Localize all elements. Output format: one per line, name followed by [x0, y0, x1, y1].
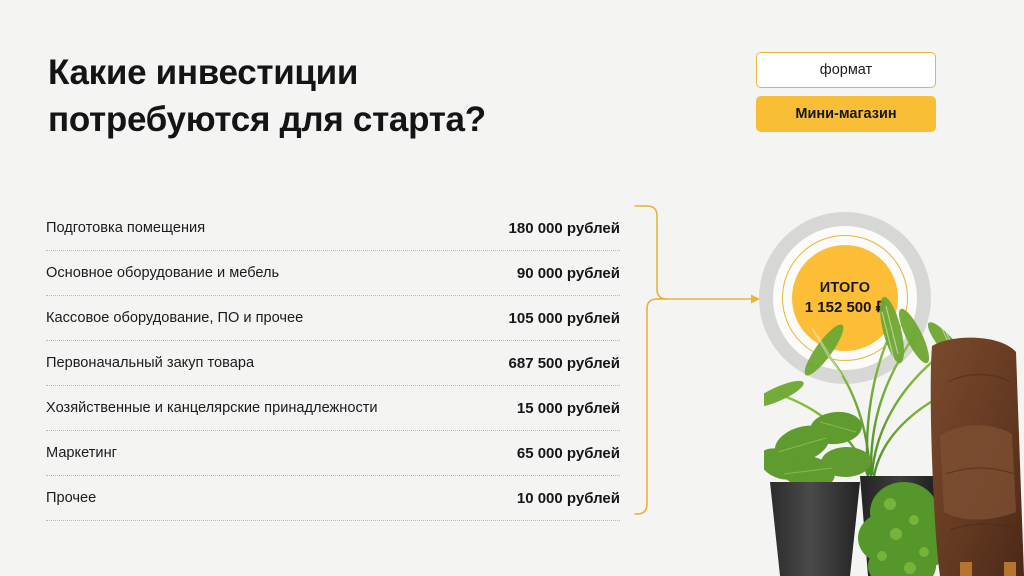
table-row: Подготовка помещения 180 000 рублей	[46, 206, 620, 251]
table-row: Прочее 10 000 рублей	[46, 476, 620, 521]
row-value: 687 500 рублей	[509, 355, 620, 372]
table-row: Хозяйственные и канцелярские принадлежно…	[46, 386, 620, 431]
page-title: Какие инвестиции потребуются для старта?	[48, 50, 668, 143]
total-label: ИТОГО	[820, 281, 871, 296]
format-value-badge[interactable]: Мини-магазин	[756, 96, 936, 132]
row-value: 180 000 рублей	[509, 220, 620, 237]
table-row: Основное оборудование и мебель 90 000 ру…	[46, 251, 620, 296]
row-label: Первоначальный закуп товара	[46, 355, 254, 371]
slide: Какие инвестиции потребуются для старта?…	[0, 0, 1024, 576]
row-value: 105 000 рублей	[509, 310, 620, 327]
row-label: Основное оборудование и мебель	[46, 265, 279, 281]
total-amount: 1 152 500 ₽	[805, 300, 885, 315]
row-value: 15 000 рублей	[517, 400, 620, 417]
total-disc: ИТОГО 1 152 500 ₽	[792, 245, 898, 351]
table-row: Первоначальный закуп товара 687 500 рубл…	[46, 341, 620, 386]
row-label: Кассовое оборудование, ПО и прочее	[46, 310, 303, 326]
row-label: Маркетинг	[46, 445, 117, 461]
row-value: 90 000 рублей	[517, 265, 620, 282]
format-badge-group: формат Мини-магазин	[756, 52, 936, 132]
investment-table: Подготовка помещения 180 000 рублей Осно…	[46, 206, 620, 521]
format-label-badge[interactable]: формат	[756, 52, 936, 88]
table-row: Маркетинг 65 000 рублей	[46, 431, 620, 476]
row-value: 10 000 рублей	[517, 490, 620, 507]
table-row: Кассовое оборудование, ПО и прочее 105 0…	[46, 296, 620, 341]
row-label: Хозяйственные и канцелярские принадлежно…	[46, 400, 378, 416]
row-value: 65 000 рублей	[517, 445, 620, 462]
row-label: Подготовка помещения	[46, 220, 205, 236]
row-label: Прочее	[46, 490, 96, 506]
total-badge: ИТОГО 1 152 500 ₽	[759, 212, 931, 384]
